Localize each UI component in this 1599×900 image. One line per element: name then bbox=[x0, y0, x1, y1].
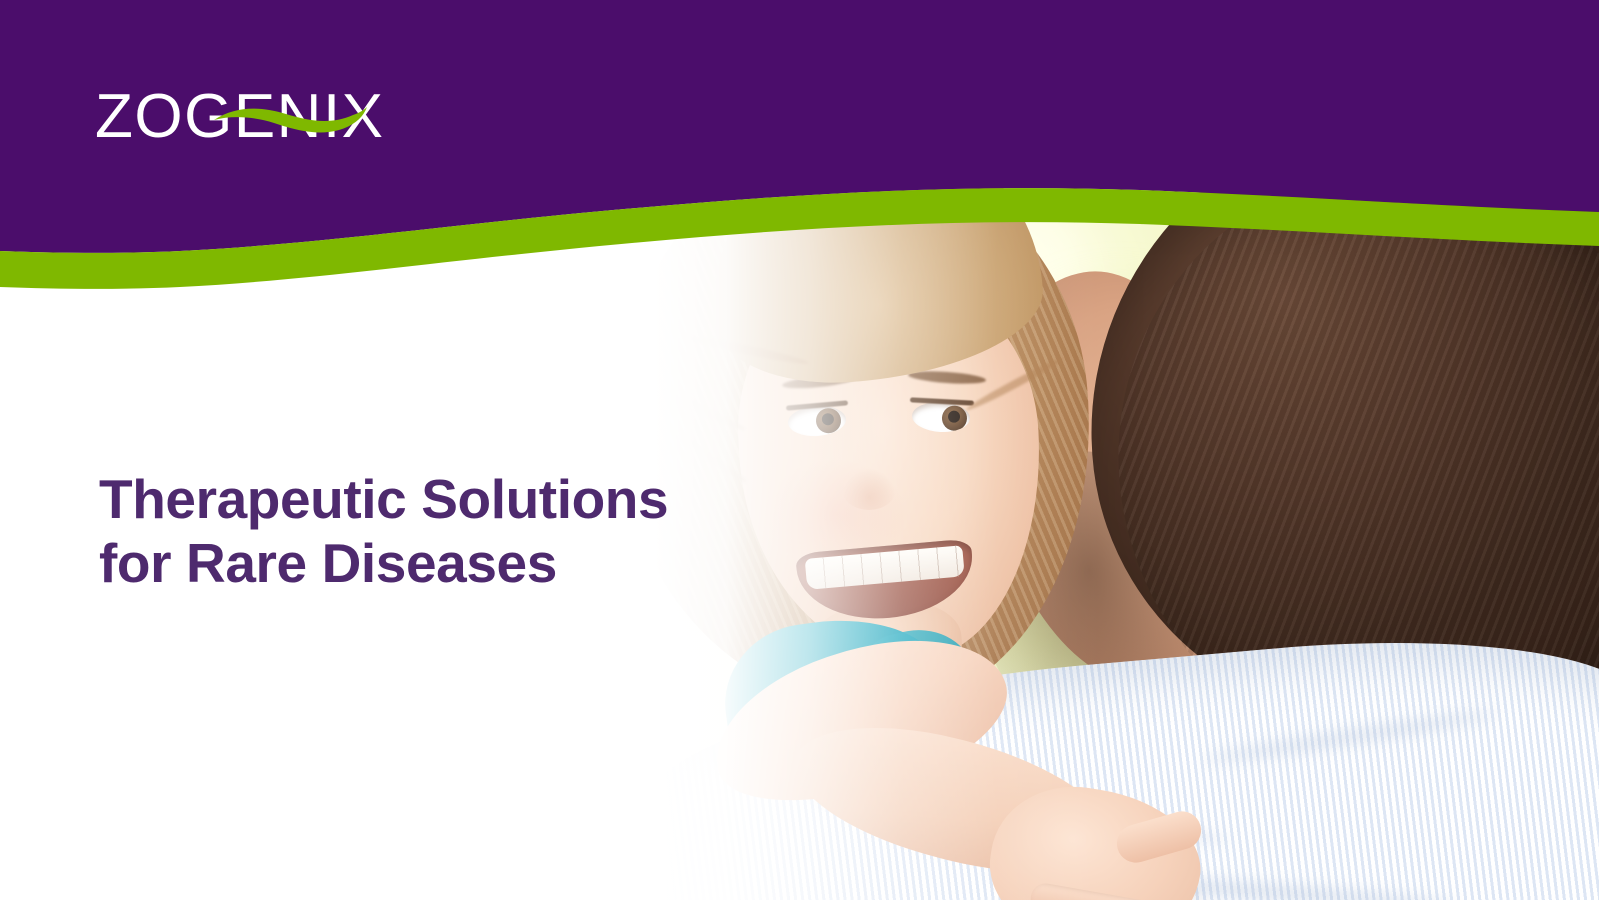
slide-canvas: ZOGENIX Therapeutic Solutions for Rare D… bbox=[0, 0, 1599, 900]
leaf-swoosh-icon bbox=[213, 104, 368, 138]
child-teeth-gaps bbox=[805, 545, 965, 590]
page-title-line-2: for Rare Diseases bbox=[99, 531, 819, 595]
child-teeth bbox=[805, 545, 965, 590]
page-title: Therapeutic Solutions for Rare Diseases bbox=[99, 467, 819, 595]
child-nose bbox=[842, 468, 896, 510]
zogenix-logo[interactable]: ZOGENIX bbox=[95, 84, 425, 150]
page-title-line-1: Therapeutic Solutions bbox=[99, 467, 819, 531]
